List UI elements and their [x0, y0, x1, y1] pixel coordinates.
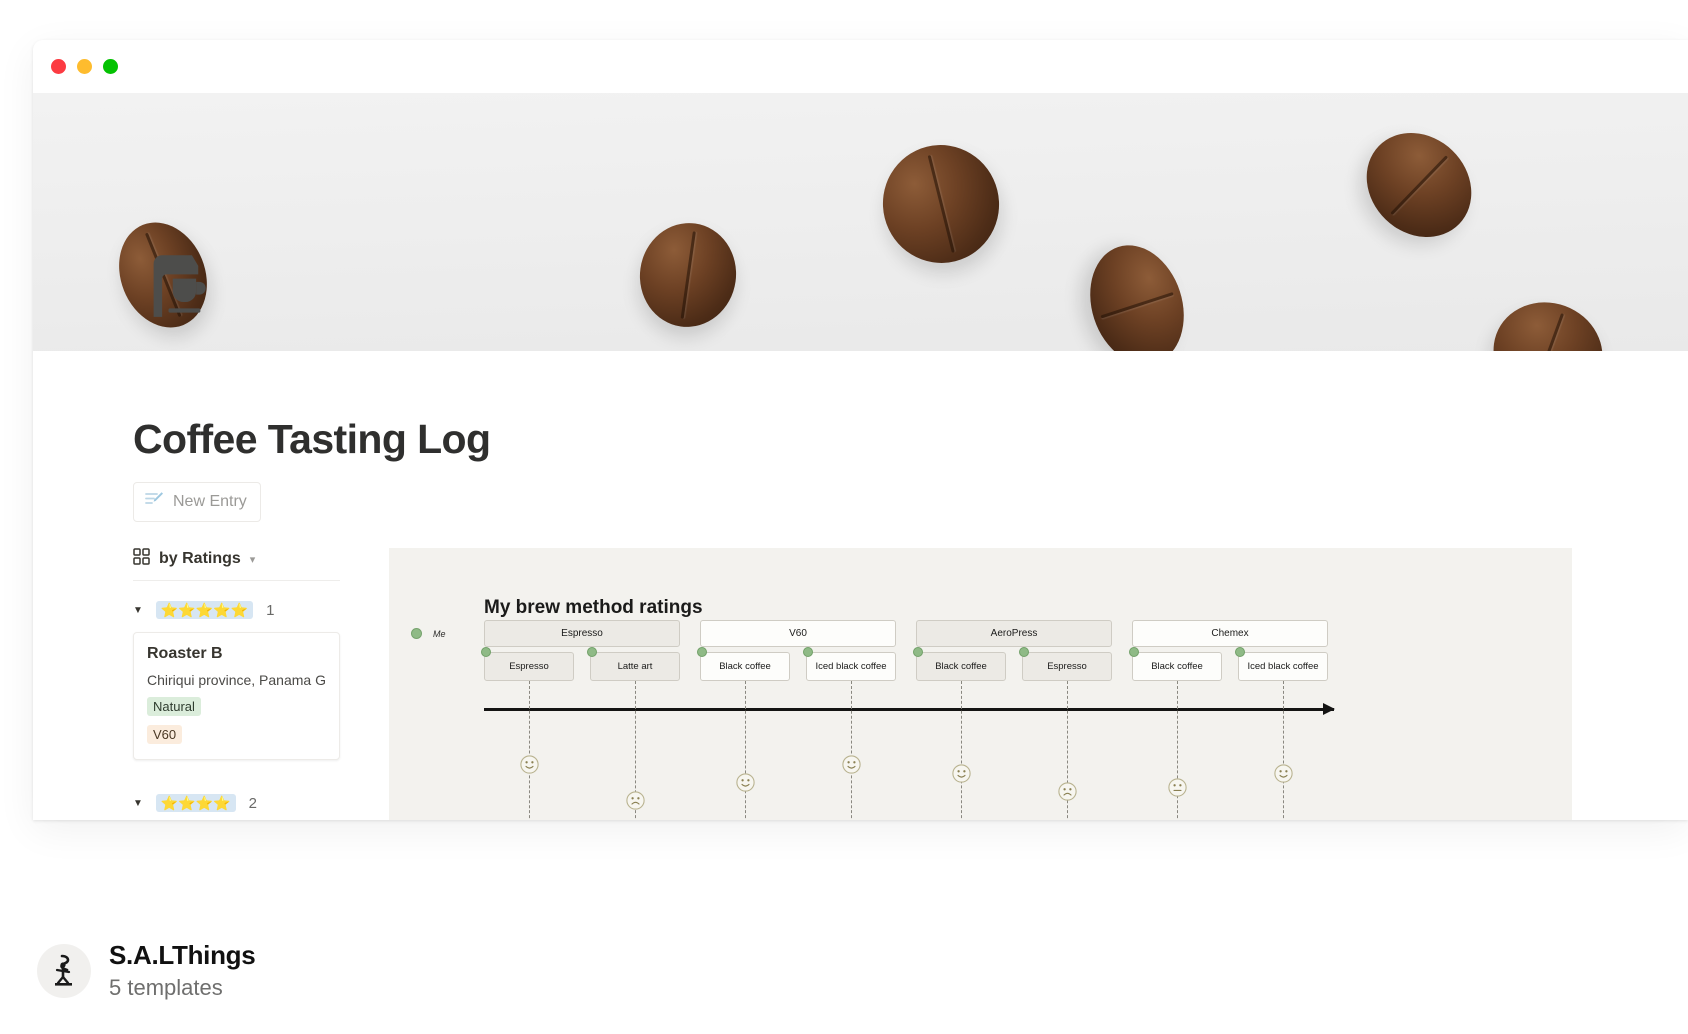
- method-node[interactable]: V60: [700, 620, 896, 647]
- coffee-machine-icon[interactable]: [143, 253, 211, 317]
- drink-node-label: Latte art: [618, 661, 653, 672]
- drink-node[interactable]: Espresso: [484, 652, 574, 681]
- entry-card-title: Roaster B: [147, 645, 326, 663]
- board-view-label: by Ratings: [159, 550, 241, 568]
- new-entry-label: New Entry: [173, 493, 247, 511]
- drink-node[interactable]: Iced black coffee: [1238, 652, 1328, 681]
- connector-line: [961, 681, 962, 820]
- rating-face-frown-icon: [1058, 782, 1077, 801]
- cover-image: [33, 93, 1688, 351]
- connector-line: [529, 681, 530, 820]
- rating-stars: ⭐⭐⭐⭐⭐: [156, 601, 253, 619]
- document-body: Coffee Tasting Log New Entry: [33, 416, 1688, 820]
- brand-name: S.A.LThings: [109, 940, 255, 971]
- connector-line: [1283, 681, 1284, 820]
- chevron-down-icon[interactable]: ▾: [250, 553, 256, 566]
- drink-node[interactable]: Espresso: [1022, 652, 1112, 681]
- coffee-bean-icon: [1345, 112, 1492, 259]
- node-marker-dot: [803, 647, 813, 657]
- grid-icon: [133, 548, 150, 570]
- entry-card[interactable]: Roaster B Chiriqui province, Panama Geis…: [133, 632, 340, 760]
- drink-node[interactable]: Latte art: [590, 652, 680, 681]
- coffee-bean-icon: [1479, 287, 1617, 351]
- drink-node[interactable]: Black coffee: [1132, 652, 1222, 681]
- rating-group-count: 2: [249, 795, 257, 812]
- method-node-label: V60: [789, 628, 807, 639]
- node-marker-dot: [481, 647, 491, 657]
- node-marker-dot: [913, 647, 923, 657]
- brand-footer: S.A.LThings 5 templates: [37, 940, 255, 1001]
- drink-node[interactable]: Black coffee: [916, 652, 1006, 681]
- method-node[interactable]: Espresso: [484, 620, 680, 647]
- rating-face-smile-icon: [1274, 764, 1293, 783]
- rating-face-neutral-icon: [1168, 778, 1187, 797]
- coffee-bean-icon: [633, 217, 743, 333]
- method-node-label: Chemex: [1211, 628, 1248, 639]
- ratings-board: by Ratings ▾ ▼ ⭐⭐⭐⭐⭐ 1 Roaster B Chiriqu…: [133, 548, 340, 820]
- method-node[interactable]: Chemex: [1132, 620, 1328, 647]
- tag-row: V60: [147, 716, 326, 744]
- node-marker-dot: [1019, 647, 1029, 657]
- drink-node-label: Black coffee: [1151, 661, 1203, 672]
- method-node-label: Espresso: [561, 628, 603, 639]
- timeline-axis: [484, 708, 1334, 711]
- drink-node-label: Espresso: [509, 661, 549, 672]
- rating-group-header[interactable]: ▼ ⭐⭐⭐⭐⭐ 1: [133, 601, 340, 619]
- browser-window: Coffee Tasting Log New Entry: [33, 40, 1688, 820]
- rating-face-smile-icon: [520, 755, 539, 774]
- drink-node[interactable]: Black coffee: [700, 652, 790, 681]
- drink-node-label: Black coffee: [719, 661, 771, 672]
- method-node-label: AeroPress: [991, 628, 1038, 639]
- rating-stars: ⭐⭐⭐⭐: [156, 794, 236, 812]
- method-node[interactable]: AeroPress: [916, 620, 1112, 647]
- collapse-caret-icon[interactable]: ▼: [133, 605, 143, 616]
- rating-face-smile-icon: [842, 755, 861, 774]
- rating-face-smile-icon: [736, 773, 755, 792]
- window-titlebar: [33, 40, 1688, 93]
- rating-group-header[interactable]: ▼ ⭐⭐⭐⭐ 2: [133, 794, 340, 812]
- legend-color-dot: [411, 628, 422, 639]
- rating-face-smile-icon: [952, 764, 971, 783]
- node-marker-dot: [587, 647, 597, 657]
- entry-card-subtitle: Chiriqui province, Panama Geisha: [147, 672, 326, 688]
- node-marker-dot: [697, 647, 707, 657]
- tag-process: Natural: [147, 697, 201, 716]
- brew-method-diagram: My brew method ratings Me EspressoV60Aer…: [389, 548, 1572, 820]
- legend-label: Me: [433, 629, 446, 639]
- drink-node-label: Iced black coffee: [815, 661, 886, 672]
- drink-node-label: Iced black coffee: [1247, 661, 1318, 672]
- collapse-caret-icon[interactable]: ▼: [133, 798, 143, 809]
- page-title: Coffee Tasting Log: [133, 416, 1688, 463]
- node-marker-dot: [1235, 647, 1245, 657]
- board-view-selector[interactable]: by Ratings ▾: [133, 548, 340, 581]
- new-entry-button[interactable]: New Entry: [133, 482, 261, 522]
- avatar: [37, 944, 91, 998]
- connector-line: [851, 681, 852, 820]
- maximize-window-button[interactable]: [103, 59, 118, 74]
- rating-face-frown-icon: [626, 791, 645, 810]
- tag-brew-method: V60: [147, 725, 182, 744]
- drink-node-label: Black coffee: [935, 661, 987, 672]
- content-columns: by Ratings ▾ ▼ ⭐⭐⭐⭐⭐ 1 Roaster B Chiriqu…: [133, 548, 1688, 820]
- drink-node-label: Espresso: [1047, 661, 1087, 672]
- coffee-bean-icon: [1075, 233, 1198, 351]
- connector-line: [745, 681, 746, 820]
- screenshot-root: Coffee Tasting Log New Entry: [0, 0, 1688, 1034]
- node-marker-dot: [1129, 647, 1139, 657]
- coffee-bean-icon: [870, 133, 1011, 276]
- new-entry-icon: [145, 491, 164, 513]
- close-window-button[interactable]: [51, 59, 66, 74]
- rating-group-count: 1: [266, 602, 274, 619]
- drink-node[interactable]: Iced black coffee: [806, 652, 896, 681]
- diagram-title: My brew method ratings: [484, 597, 703, 619]
- connector-line: [1177, 681, 1178, 820]
- tag-row: Natural: [147, 688, 326, 716]
- brand-template-count: 5 templates: [109, 975, 255, 1001]
- diagram-legend: Me: [411, 628, 446, 639]
- minimize-window-button[interactable]: [77, 59, 92, 74]
